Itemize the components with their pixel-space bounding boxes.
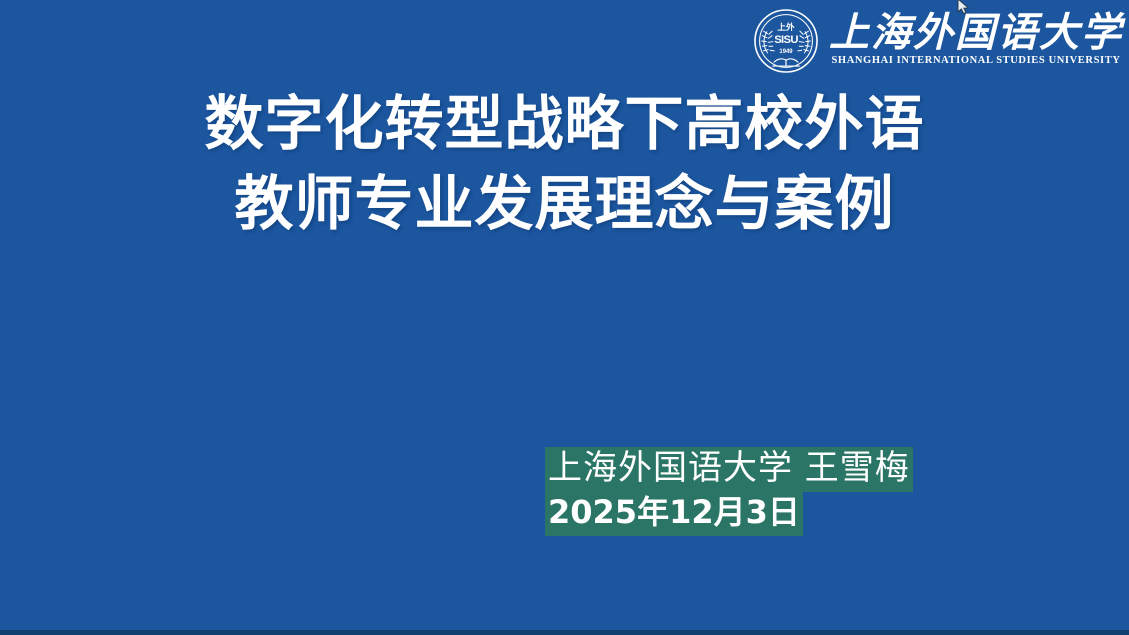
emblem-laurel-right [798, 31, 811, 53]
emblem-book-icon [773, 59, 799, 66]
page-title: 数字化转型战略下高校外语 教师专业发展理念与案例 [0, 82, 1129, 246]
university-wordmark: 上海外国语大学 SHANGHAI INTERNATIONAL STUDIES U… [829, 12, 1123, 70]
wordmark-english: SHANGHAI INTERNATIONAL STUDIES UNIVERSIT… [831, 55, 1120, 68]
emblem-sisu-label: SISU [774, 34, 798, 46]
title-line-2: 教师专业发展理念与案例 [0, 162, 1129, 246]
university-logo-lockup: 上外 SISU 1949 上海外国语大学 SHANGHAI INTERNATIO… [753, 8, 1123, 74]
presenter-row: 上海外国语大学 王雪梅 [545, 447, 913, 492]
presenter-text: 上海外国语大学 王雪梅 [545, 447, 913, 492]
presentation-slide[interactable]: 上外 SISU 1949 上海外国语大学 SHANGHAI INTERNATIO… [0, 0, 1129, 635]
emblem-laurel-left [762, 31, 775, 53]
mouse-pointer-icon [957, 0, 971, 16]
wordmark-chinese: 上海外国语大学 [829, 12, 1123, 54]
emblem-top-label: 上外 [777, 21, 795, 32]
byline: 上海外国语大学 王雪梅 2025年12月3日 [545, 447, 913, 536]
date-row: 2025年12月3日 [545, 492, 803, 535]
bottom-strip [0, 630, 1129, 635]
emblem-year-label: 1949 [779, 49, 793, 55]
date-text: 2025年12月3日 [545, 492, 803, 535]
sisu-emblem-icon: 上外 SISU 1949 [753, 8, 819, 74]
title-line-1: 数字化转型战略下高校外语 [0, 82, 1129, 166]
